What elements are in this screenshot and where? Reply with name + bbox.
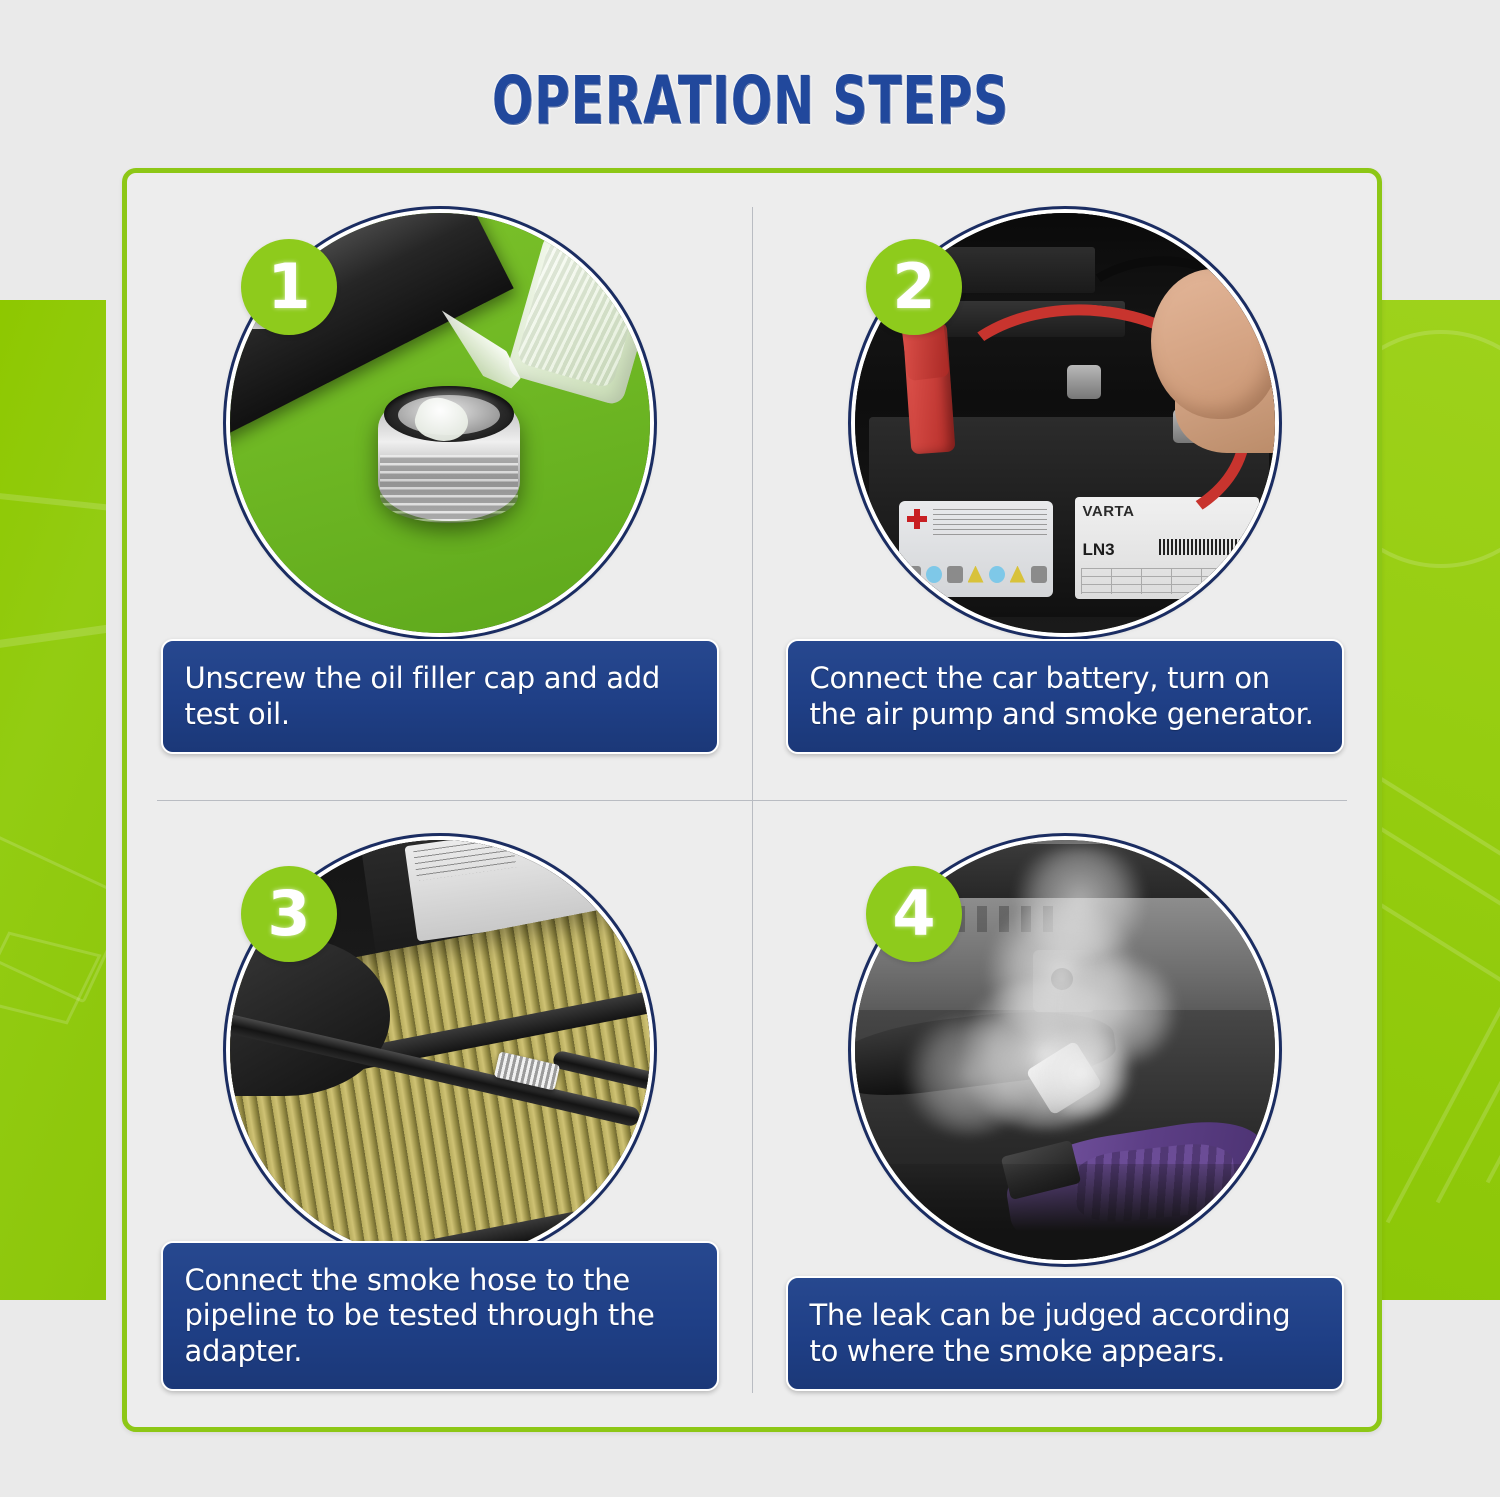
step-caption-3: Connect the smoke hose to the pipeline t…: [161, 1241, 719, 1391]
photo4-dark-foreground: [855, 1164, 1275, 1260]
band-texture-line: [1382, 751, 1500, 892]
photo4-smoke-plume: [899, 1016, 1039, 1136]
no-flame-icon: [609, 840, 627, 842]
band-texture-line: [0, 490, 106, 516]
photo2-barcode: [1159, 539, 1251, 555]
step-badge-3: 3: [241, 866, 337, 962]
step-badge-2: 2: [866, 239, 962, 335]
band-texture-circle: [1382, 330, 1500, 568]
page-title-wrapper: OPERATION STEPS: [0, 62, 1500, 139]
band-texture-line: [1486, 917, 1500, 1184]
corrosive-icon: [1010, 566, 1026, 583]
recycle-icon: [1031, 566, 1047, 583]
step-card-2: VARTA LN3 2: [752, 173, 1377, 800]
step-card-3: 3 Connect the smoke hose to the pipeline…: [127, 800, 752, 1427]
band-texture-line: [1386, 957, 1500, 1224]
step-card-4: 4 The leak can be judged according to wh…: [752, 800, 1377, 1427]
wash-eyes-icon: [989, 566, 1005, 583]
photo2-spec-table: [1081, 568, 1253, 594]
photo2-red-cross-icon: [907, 509, 927, 529]
steps-frame: 1 Unscrew the oil filler cap and add tes…: [122, 168, 1382, 1432]
warning-triangle-icon: [565, 840, 583, 848]
photo1-port-threads: [380, 455, 518, 523]
page-title: OPERATION STEPS: [491, 62, 1008, 139]
steps-grid: 1 Unscrew the oil filler cap and add tes…: [127, 173, 1377, 1427]
step-caption-1: Unscrew the oil filler cap and add test …: [161, 639, 719, 754]
no-smoking-icon: [947, 566, 963, 583]
photo2-hazard-icons: [905, 559, 1047, 589]
band-texture-line: [1382, 801, 1500, 942]
photo3-hazard-icons: [565, 840, 627, 848]
right-green-band: [1382, 300, 1500, 1300]
step-badge-4: 4: [866, 866, 962, 962]
step-caption-4: The leak can be judged according to wher…: [786, 1276, 1344, 1391]
photo3-label-text-lines: [413, 840, 516, 881]
band-texture-line: [0, 618, 106, 651]
photo4-smoke-plume: [1005, 846, 1155, 956]
step-badge-1: 1: [241, 239, 337, 335]
photo4-smoke-plume: [1061, 956, 1181, 1066]
page-background: OPERATION STEPS: [0, 0, 1500, 1497]
left-green-band: [0, 300, 106, 1300]
step-card-1: 1 Unscrew the oil filler cap and add tes…: [127, 173, 752, 800]
step-caption-2: Connect the car battery, turn on the air…: [786, 639, 1344, 754]
eye-protection-icon: [587, 840, 605, 845]
no-flame-icon: [905, 566, 921, 583]
warning-triangle-icon: [968, 566, 984, 583]
eye-protection-icon: [926, 566, 942, 583]
